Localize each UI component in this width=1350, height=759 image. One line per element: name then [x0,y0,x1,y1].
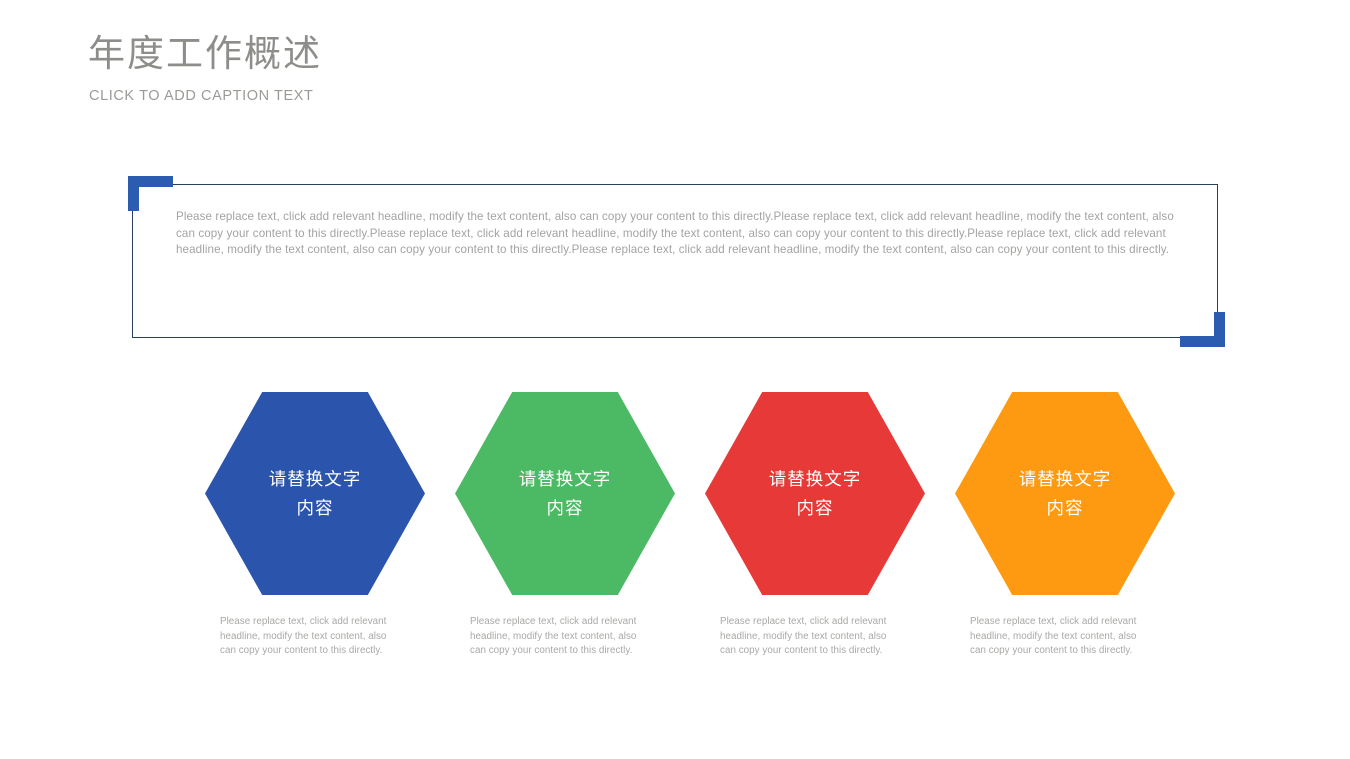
hexagon-item-4[interactable]: 请替换文字 内容 Please replace text, click add … [940,392,1190,659]
hexagon-label-1: 请替换文字 内容 [269,465,362,523]
slide-canvas: 年度工作概述 CLICK TO ADD CAPTION TEXT Please … [0,0,1350,759]
page-subtitle: CLICK TO ADD CAPTION TEXT [89,86,688,106]
page-title: 年度工作概述 [88,30,688,78]
hexagon-item-3[interactable]: 请替换文字 内容 Please replace text, click add … [690,392,940,659]
hexagon-caption-1: Please replace text, click add relevant … [220,615,392,659]
hexagon-label-4: 请替换文字 内容 [1019,465,1112,523]
hexagon-shape-2[interactable]: 请替换文字 内容 [455,392,675,595]
hexagon-row: 请替换文字 内容 Please replace text, click add … [0,392,1350,672]
hexagon-shape-4[interactable]: 请替换文字 内容 [955,392,1175,595]
description-body-text: Please replace text, click add relevant … [176,209,1174,259]
hexagon-caption-2: Please replace text, click add relevant … [470,615,642,659]
hexagon-caption-4: Please replace text, click add relevant … [970,615,1142,659]
corner-accent-bottom-right-icon [1180,312,1225,347]
hexagon-item-2[interactable]: 请替换文字 内容 Please replace text, click add … [440,392,690,659]
hexagon-caption-3: Please replace text, click add relevant … [720,615,892,659]
hexagon-label-2: 请替换文字 内容 [519,465,612,523]
hexagon-label-3: 请替换文字 内容 [769,465,862,523]
frame-border [132,184,1218,338]
description-frame: Please replace text, click add relevant … [132,184,1218,338]
slide-header: 年度工作概述 CLICK TO ADD CAPTION TEXT [88,30,688,106]
corner-accent-top-left-icon [128,176,173,211]
hexagon-shape-1[interactable]: 请替换文字 内容 [205,392,425,595]
hexagon-item-1[interactable]: 请替换文字 内容 Please replace text, click add … [190,392,440,659]
hexagon-shape-3[interactable]: 请替换文字 内容 [705,392,925,595]
